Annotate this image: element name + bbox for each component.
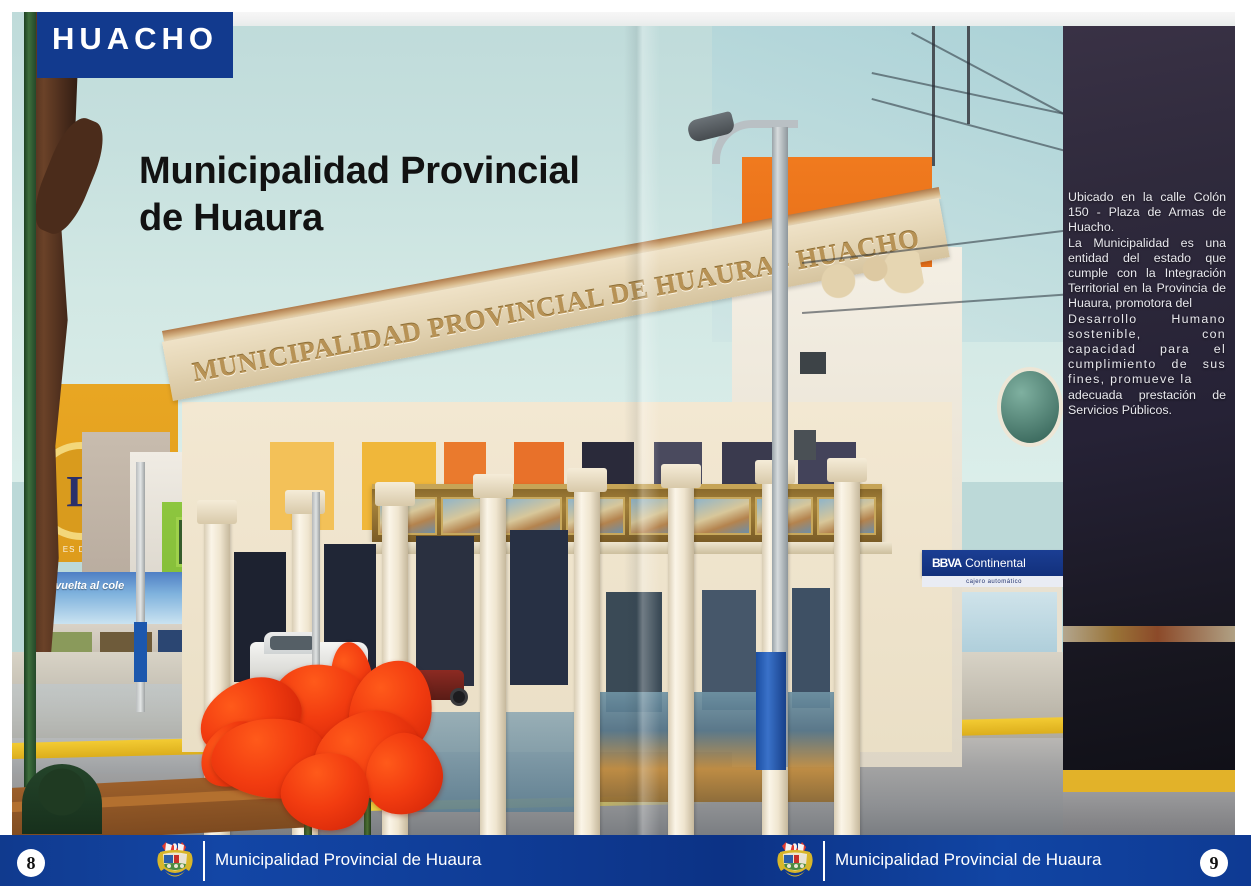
footer-label-right: Municipalidad Provincial de Huaura: [835, 850, 1101, 870]
page-margin-right: [1235, 0, 1251, 835]
annex-round-window: [997, 367, 1063, 447]
bbva-sign-subtitle: cajero automático: [922, 576, 1066, 587]
page-number-right: 9: [1200, 849, 1228, 877]
building-opening: [510, 530, 568, 685]
info-paragraph-1: Ubicado en la calle Colón 150 - Plaza de…: [1068, 190, 1226, 236]
info-text-block: Ubicado en la calle Colón 150 - Plaza de…: [1068, 190, 1226, 418]
balcony-mural-panel: [692, 497, 751, 535]
roof-antenna: [967, 20, 970, 124]
motorcycle-wheel: [450, 688, 468, 706]
roof-antenna-secondary: [932, 26, 935, 166]
street-lamp-base: [756, 652, 786, 770]
facade-column: [574, 490, 600, 835]
ground-floor-glazing-right: [592, 692, 842, 802]
page-title-line-1: Municipalidad Provincial: [139, 148, 679, 195]
page-title-line-2: de Huaura: [139, 195, 679, 242]
bbva-bank-sign: BBVA Continental: [922, 550, 1066, 576]
coat-of-arms-icon: [772, 840, 818, 882]
info-paragraph-2c: adecuada prestación de Servicios Público…: [1068, 388, 1226, 418]
park-bench-ironwork: [22, 764, 102, 834]
dark-panel-yellow-curb: [1063, 770, 1235, 792]
info-paragraph-2a: La Municipalidad es una entidad del esta…: [1068, 236, 1226, 312]
pickup-truck-window: [270, 636, 314, 650]
facade-column: [480, 496, 506, 835]
green-vertical-pole: [24, 12, 36, 835]
page-title: Municipalidad Provincial de Huaura: [139, 148, 679, 242]
pole-utility-box: [794, 430, 816, 460]
spread-photograph: L ...ESO ES DAÑINO De vuelta al cole: [12, 12, 1235, 835]
huacho-brand-label: HUACHO: [52, 21, 218, 57]
facade-column: [668, 486, 694, 835]
balcony-mural-panel: [504, 497, 563, 535]
page-margin-left: [0, 0, 12, 835]
building-opening: [416, 536, 474, 686]
building-opening: [792, 588, 830, 708]
dark-wall-panel: [1063, 12, 1235, 835]
info-paragraph-2b: Desarrollo Humano sostenible, con capaci…: [1068, 312, 1226, 388]
facade-column: [834, 480, 860, 835]
bbva-logo-mark: BBVA: [932, 556, 961, 570]
footer-divider-left: [203, 841, 205, 881]
page-margin-top: [0, 0, 1251, 12]
pole-utility-box-upper: [800, 352, 826, 374]
bbva-sign-name: Continental: [965, 556, 1026, 570]
dark-panel-road: [1063, 792, 1235, 835]
coat-of-arms-icon: [152, 840, 198, 882]
sidewalk-pole-base: [134, 622, 147, 682]
dark-panel-decorative-band: [1063, 626, 1235, 642]
footer-label-left: Municipalidad Provincial de Huaura: [215, 850, 481, 870]
balcony-railing: [372, 484, 882, 542]
page-number-left: 8: [17, 849, 45, 877]
footer-divider-right: [823, 841, 825, 881]
magazine-spread-page: L ...ESO ES DAÑINO De vuelta al cole: [0, 0, 1251, 886]
